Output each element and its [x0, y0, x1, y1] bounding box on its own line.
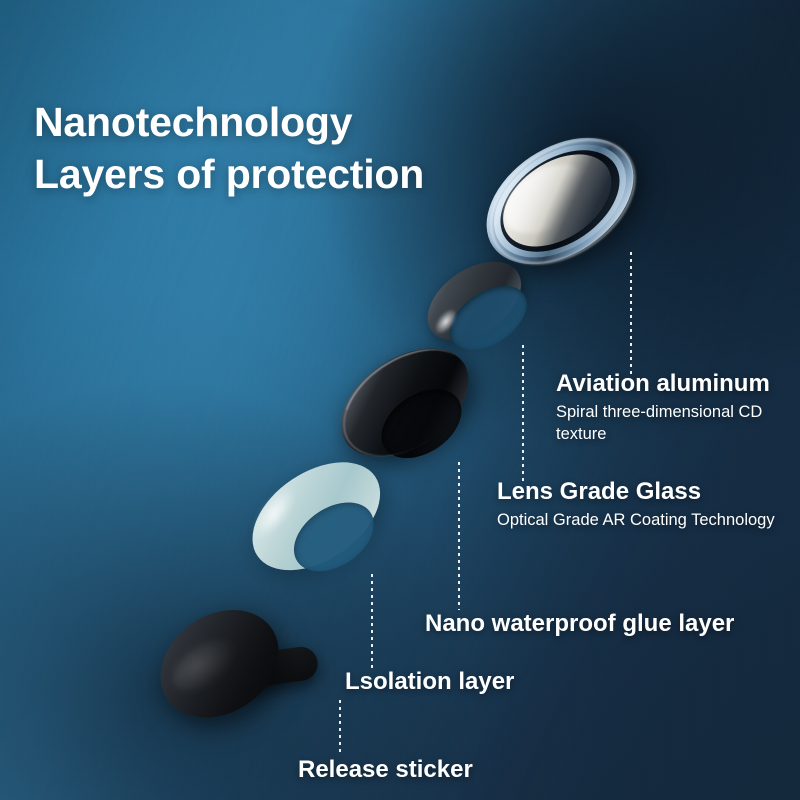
callout-subtitle: Spiral three-dimensional CD texture — [556, 402, 800, 446]
release-sticker-disc — [155, 588, 320, 730]
leader-line-nano-glue — [458, 462, 460, 610]
callout-title: Lens Grade Glass — [497, 478, 800, 507]
leader-line-lens-grade-glass — [522, 345, 524, 481]
release-sticker-gloss-highlight — [164, 629, 246, 702]
callout-title: Aviation aluminum — [556, 370, 800, 399]
release-sticker-body — [140, 588, 299, 740]
leader-line-aviation-aluminum — [630, 252, 632, 374]
callout-isolation-layer: Lsolation layer — [345, 668, 514, 697]
callout-lens-grade-glass: Lens Grade Glass Optical Grade AR Coatin… — [497, 478, 800, 532]
callout-release-sticker: Release sticker — [298, 756, 473, 785]
callout-nano-waterproof-glue-layer: Nano waterproof glue layer — [425, 610, 734, 639]
callout-title: Nano waterproof glue layer — [425, 610, 734, 639]
product-infographic: Nanotechnology Layers of protection — [0, 0, 800, 800]
callout-title: Lsolation layer — [345, 668, 514, 697]
callout-aviation-aluminum: Aviation aluminum Spiral three-dimension… — [556, 370, 800, 446]
callout-subtitle: Optical Grade AR Coating Technology — [497, 510, 800, 532]
isolation-ring-aperture — [281, 488, 386, 585]
leader-line-release-sticker — [339, 700, 341, 756]
leader-line-isolation — [371, 574, 373, 670]
callout-title: Release sticker — [298, 756, 473, 785]
